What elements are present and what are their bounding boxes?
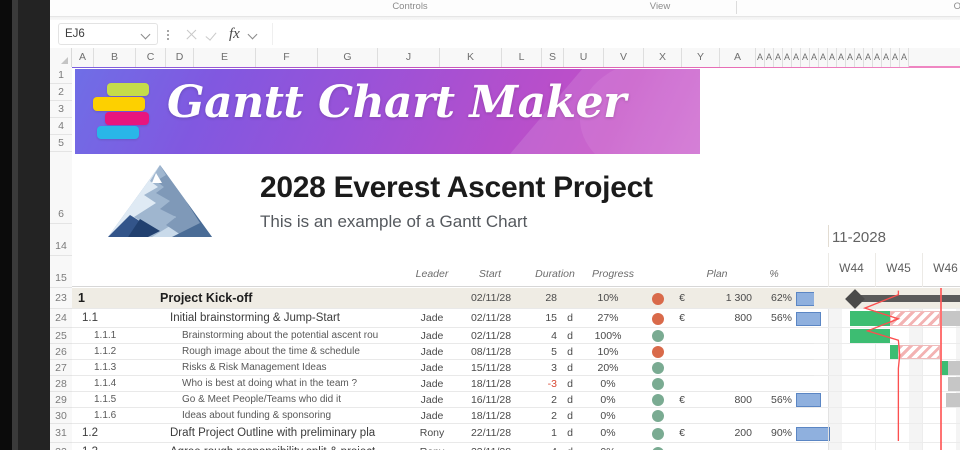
gantt-month-header: 11-2028	[814, 225, 960, 253]
task-wbs: 1.1	[82, 309, 98, 328]
ribbon-divider	[736, 1, 737, 14]
kebab-menu-icon[interactable]	[161, 23, 175, 45]
spreadsheet-canvas: Gantt Chart Maker 2028 Everest Ascent Pr…	[72, 67, 960, 450]
status-indicator-green	[652, 330, 664, 342]
task-duration: 3	[527, 360, 557, 376]
table-row[interactable]: 1.1.6Ideas about funding & sponsoringJad…	[72, 408, 814, 424]
task-wbs: 1.1.5	[94, 392, 116, 408]
gantt-bar-done[interactable]	[850, 311, 890, 326]
column-header-narrow[interactable]: A	[864, 48, 873, 67]
column-header-F[interactable]: F	[256, 48, 318, 67]
task-name: Risks & Risk Management Ideas	[182, 360, 417, 376]
formula-bar: EJ6 fx	[50, 20, 960, 48]
task-progress: 0%	[584, 443, 632, 450]
row-header-15[interactable]: 15	[50, 256, 72, 288]
task-plan-percent: 56%	[758, 309, 792, 328]
row-header-28[interactable]: 28	[50, 376, 72, 392]
select-all-corner[interactable]	[50, 48, 72, 67]
task-duration: 28	[527, 288, 557, 309]
column-header-V[interactable]: V	[604, 48, 644, 67]
task-duration-unit: d	[565, 309, 575, 328]
table-row[interactable]: 1.1Initial brainstorming & Jump-StartJad…	[72, 309, 814, 328]
task-leader: Rony	[410, 424, 454, 443]
column-header-narrow[interactable]: A	[792, 48, 801, 67]
gutter-strip-outer	[0, 0, 12, 450]
task-leader: Rony	[410, 443, 454, 450]
task-wbs: 1.3	[82, 443, 98, 450]
status-indicator-red	[652, 346, 664, 358]
task-name: Go & Meet People/Teams who did it	[182, 392, 417, 408]
task-name: Initial brainstorming & Jump-Start	[170, 309, 405, 328]
task-name: Agree rough responsibility split & proje…	[170, 443, 405, 450]
task-name: Brainstorming about the potential ascent…	[182, 328, 417, 344]
table-row[interactable]: 1.1.5Go & Meet People/Teams who did itJa…	[72, 392, 814, 408]
ribbon-group-view[interactable]: View	[610, 0, 710, 14]
column-header-narrow[interactable]: A	[810, 48, 819, 67]
row-header-14[interactable]: 14	[50, 224, 72, 256]
column-header-narrow[interactable]: A	[891, 48, 900, 67]
gantt-grid	[814, 288, 960, 450]
task-start: 08/11/28	[462, 344, 520, 360]
gantt-week-divider	[875, 253, 876, 287]
ribbon-group-controls[interactable]: Controls	[350, 0, 470, 14]
chevron-down-icon[interactable]	[249, 30, 258, 39]
gantt-bar-done[interactable]	[850, 329, 890, 343]
table-header-: %	[752, 266, 796, 282]
task-duration-unit: d	[565, 443, 575, 450]
column-header-C[interactable]: C	[136, 48, 166, 67]
formula-input[interactable]	[272, 23, 960, 45]
task-duration-unit: d	[565, 360, 575, 376]
column-header-B[interactable]: B	[94, 48, 136, 67]
row-header-5[interactable]: 5	[50, 135, 72, 152]
gantt-chart: 11-2028 W44W45W46	[814, 67, 960, 450]
table-header-progress: Progress	[577, 266, 649, 282]
gantt-week-header: W44W45W46	[814, 253, 960, 287]
column-header-row: ABCDEFGJKLSUVXYAAAAAAAAAAAAAAAAAA	[50, 48, 960, 67]
task-name: Project Kick-off	[160, 288, 395, 309]
name-box[interactable]: EJ6	[58, 23, 158, 45]
task-progress: 0%	[584, 424, 632, 443]
task-wbs: 1.2	[82, 424, 98, 443]
column-header-narrow[interactable]: A	[756, 48, 765, 67]
column-header-Y[interactable]: Y	[682, 48, 720, 67]
task-wbs: 1.1.2	[94, 344, 116, 360]
row-header-1[interactable]: 1	[50, 67, 72, 84]
task-progress: 10%	[584, 344, 632, 360]
gantt-summary-bar	[854, 295, 960, 302]
table-row[interactable]: 1.1.1Brainstorming about the potential a…	[72, 328, 814, 344]
project-subtitle: This is an example of a Gantt Chart	[260, 212, 527, 232]
table-header-start: Start	[454, 266, 526, 282]
table-row[interactable]: 1Project Kick-off02/11/282810%€1 30062%	[72, 288, 814, 309]
column-header-narrow[interactable]: A	[837, 48, 846, 67]
task-duration: 4	[527, 443, 557, 450]
task-duration: 2	[527, 392, 557, 408]
table-row[interactable]: 1.1.2Rough image about the time & schedu…	[72, 344, 814, 360]
task-wbs: 1.1.3	[94, 360, 116, 376]
task-duration: 1	[527, 424, 557, 443]
task-plan-value: 800	[694, 309, 752, 328]
row-header-3[interactable]: 3	[50, 101, 72, 118]
task-leader: Jade	[410, 392, 454, 408]
row-header-6[interactable]: 6	[50, 152, 72, 224]
table-row[interactable]: 1.3Agree rough responsibility split & pr…	[72, 443, 814, 450]
column-header-narrow[interactable]: A	[828, 48, 837, 67]
column-header-narrow[interactable]: A	[855, 48, 864, 67]
column-header-narrow[interactable]: A	[783, 48, 792, 67]
column-header-J[interactable]: J	[378, 48, 440, 67]
gantt-month-label: 11-2028	[832, 229, 886, 246]
row-header-column: 123456141523242526272829303132	[50, 67, 72, 450]
task-progress: 10%	[584, 288, 632, 309]
project-header: 2028 Everest Ascent Project This is an e…	[72, 159, 772, 244]
task-duration-unit: d	[565, 424, 575, 443]
task-progress: 0%	[584, 408, 632, 424]
task-plan-percent: 90%	[758, 424, 792, 443]
formula-actions: fx	[177, 23, 266, 45]
task-currency-symbol: €	[675, 424, 689, 443]
row-header-32[interactable]: 32	[50, 443, 72, 450]
task-plan-value: 1 300	[694, 288, 752, 309]
table-header: LeaderStartDurationProgressPlan%	[72, 263, 814, 287]
status-indicator-green	[652, 410, 664, 422]
task-leader: Jade	[410, 344, 454, 360]
chevron-down-icon[interactable]	[142, 30, 151, 39]
column-header-narrow[interactable]: A	[765, 48, 774, 67]
task-progress: 100%	[584, 328, 632, 344]
column-header-narrow[interactable]: A	[774, 48, 783, 67]
row-header-25[interactable]: 25	[50, 328, 72, 344]
window-left-gutter	[0, 0, 50, 450]
gantt-week-divider	[828, 253, 829, 287]
task-leader: Jade	[410, 408, 454, 424]
column-header-K[interactable]: K	[440, 48, 502, 67]
task-duration: -3	[527, 376, 557, 392]
gantt-week-label-W45: W45	[875, 261, 922, 275]
status-indicator-red	[652, 293, 664, 305]
status-indicator-green	[652, 447, 664, 450]
table-row[interactable]: 1.2Draft Project Outline with preliminar…	[72, 424, 814, 443]
task-currency-symbol: €	[675, 288, 689, 309]
gantt-week-label-W46: W46	[922, 261, 960, 275]
column-header-narrow[interactable]: A	[873, 48, 882, 67]
status-indicator-green	[652, 394, 664, 406]
task-progress: 20%	[584, 360, 632, 376]
task-duration-unit: d	[565, 328, 575, 344]
table-row[interactable]: 1.1.4Who is best at doing what in the te…	[72, 376, 814, 392]
task-duration-unit: d	[565, 392, 575, 408]
table-header-plan: Plan	[672, 266, 762, 282]
task-name: Ideas about funding & sponsoring	[182, 408, 417, 424]
banner-title: Gantt Chart Maker	[167, 77, 626, 128]
task-start: 02/11/28	[462, 328, 520, 344]
task-wbs: 1	[78, 288, 85, 309]
column-header-L[interactable]: L	[502, 48, 542, 67]
task-duration-unit: d	[565, 408, 575, 424]
task-duration-unit: d	[565, 344, 575, 360]
task-start: 02/11/28	[462, 288, 520, 309]
task-leader: Jade	[410, 376, 454, 392]
task-leader: Jade	[410, 309, 454, 328]
column-header-U[interactable]: U	[564, 48, 604, 67]
task-duration: 15	[527, 309, 557, 328]
row-header-24[interactable]: 24	[50, 309, 72, 328]
task-currency-symbol: €	[675, 392, 689, 408]
mountain-icon	[100, 161, 220, 241]
column-header-narrow[interactable]: A	[801, 48, 810, 67]
gantt-week-divider	[922, 253, 923, 287]
gantt-bar-plan[interactable]	[948, 377, 960, 391]
task-plan-percent: 62%	[758, 288, 792, 309]
task-currency-symbol: €	[675, 309, 689, 328]
task-name: Rough image about the time & schedule	[182, 344, 417, 360]
column-header-A[interactable]: A	[720, 48, 756, 67]
row-header-30[interactable]: 30	[50, 408, 72, 424]
row-header-2[interactable]: 2	[50, 84, 72, 101]
task-leader: Jade	[410, 328, 454, 344]
ribbon-group-options[interactable]: Options	[930, 0, 960, 14]
column-header-A[interactable]: A	[72, 48, 94, 67]
task-name: Draft Project Outline with preliminary p…	[170, 424, 405, 443]
task-wbs: 1.1.6	[94, 408, 116, 424]
column-header-narrow[interactable]: A	[900, 48, 909, 67]
task-wbs: 1.1.1	[94, 328, 116, 344]
confirm-icon[interactable]	[207, 28, 220, 41]
app-banner: Gantt Chart Maker	[75, 69, 700, 154]
task-duration: 4	[527, 328, 557, 344]
task-start: 23/11/28	[462, 443, 520, 450]
task-start: 18/11/28	[462, 376, 520, 392]
gantt-bar-done[interactable]	[890, 345, 898, 359]
task-progress: 0%	[584, 392, 632, 408]
cancel-icon[interactable]	[185, 28, 198, 41]
column-header-narrow[interactable]: A	[846, 48, 855, 67]
column-header-D[interactable]: D	[166, 48, 194, 67]
gantt-logo-icon	[91, 83, 153, 141]
fx-icon[interactable]: fx	[229, 26, 240, 43]
status-indicator-red	[652, 313, 664, 325]
column-header-G[interactable]: G	[318, 48, 378, 67]
gantt-week-label-W44: W44	[828, 261, 875, 275]
task-duration-unit: d	[565, 376, 575, 392]
column-header-E[interactable]: E	[194, 48, 256, 67]
project-title: 2028 Everest Ascent Project	[260, 171, 653, 205]
column-header-narrow[interactable]: A	[882, 48, 891, 67]
row-header-26[interactable]: 26	[50, 344, 72, 360]
table-header-leader: Leader	[402, 266, 462, 282]
name-box-value: EJ6	[65, 28, 142, 40]
gutter-strip-inner	[18, 0, 50, 450]
status-indicator-green	[652, 362, 664, 374]
task-name: Who is best at doing what in the team ?	[182, 376, 417, 392]
row-header-27[interactable]: 27	[50, 360, 72, 376]
column-header-S[interactable]: S	[542, 48, 564, 67]
task-leader: Jade	[410, 360, 454, 376]
row-header-4[interactable]: 4	[50, 118, 72, 135]
ribbon-inner	[50, 0, 960, 17]
row-header-23[interactable]: 23	[50, 288, 72, 309]
gantt-today-line	[940, 288, 942, 450]
task-start: 15/11/28	[462, 360, 520, 376]
task-plan-value: 200	[694, 424, 752, 443]
gantt-bar-slip	[898, 345, 940, 359]
column-header-X[interactable]: X	[644, 48, 682, 67]
row-header-31[interactable]: 31	[50, 424, 72, 443]
task-start: 02/11/28	[462, 309, 520, 328]
task-progress: 0%	[584, 376, 632, 392]
table-row[interactable]: 1.1.3Risks & Risk Management IdeasJade15…	[72, 360, 814, 376]
status-indicator-green	[652, 378, 664, 390]
gantt-bar-plan[interactable]	[946, 393, 960, 407]
gantt-bar-plan[interactable]	[942, 311, 960, 326]
task-duration: 5	[527, 344, 557, 360]
column-header-narrow[interactable]: A	[819, 48, 828, 67]
gantt-bar-plan[interactable]	[948, 361, 960, 375]
status-indicator-green	[652, 428, 664, 440]
task-progress: 27%	[584, 309, 632, 328]
task-start: 18/11/28	[462, 408, 520, 424]
task-plan-percent: 56%	[758, 392, 792, 408]
task-start: 16/11/28	[462, 392, 520, 408]
task-wbs: 1.1.4	[94, 376, 116, 392]
row-header-29[interactable]: 29	[50, 392, 72, 408]
task-duration: 2	[527, 408, 557, 424]
task-plan-value: 800	[694, 392, 752, 408]
task-start: 22/11/28	[462, 424, 520, 443]
gantt-bar-slip	[890, 311, 940, 326]
